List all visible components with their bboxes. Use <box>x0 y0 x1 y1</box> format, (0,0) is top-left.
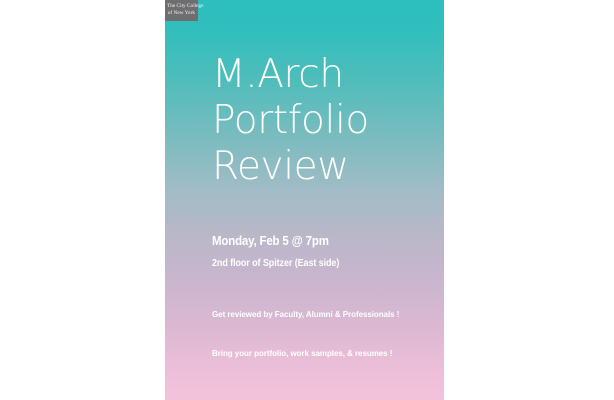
event-datetime: Monday, Feb 5 @ 7pm <box>212 233 419 250</box>
callout-line-2: Bring your portfolio, work samples, & re… <box>212 347 426 359</box>
ccny-logo: The City College of New York <box>165 0 198 21</box>
event-location: 2nd floor of Spitzer (East side) <box>212 257 419 270</box>
screenshot-canvas: The City College of New York M.Arch Port… <box>0 0 614 400</box>
callout-line-1: Get reviewed by Faculty, Alumni & Profes… <box>212 308 426 320</box>
event-details: Monday, Feb 5 @ 7pm 2nd floor of Spitzer… <box>212 233 437 270</box>
poster-headline: M.Arch Portfolio Review <box>212 52 437 190</box>
headline-line-1: M.Arch <box>212 52 437 98</box>
event-poster: The City College of New York M.Arch Port… <box>165 0 444 400</box>
logo-line-1: The City College <box>167 3 195 10</box>
headline-line-2: Portfolio <box>212 98 437 144</box>
event-callouts: Get reviewed by Faculty, Alumni & Profes… <box>212 308 442 359</box>
headline-line-3: Review <box>212 144 437 190</box>
logo-line-2: of New York <box>167 10 195 17</box>
